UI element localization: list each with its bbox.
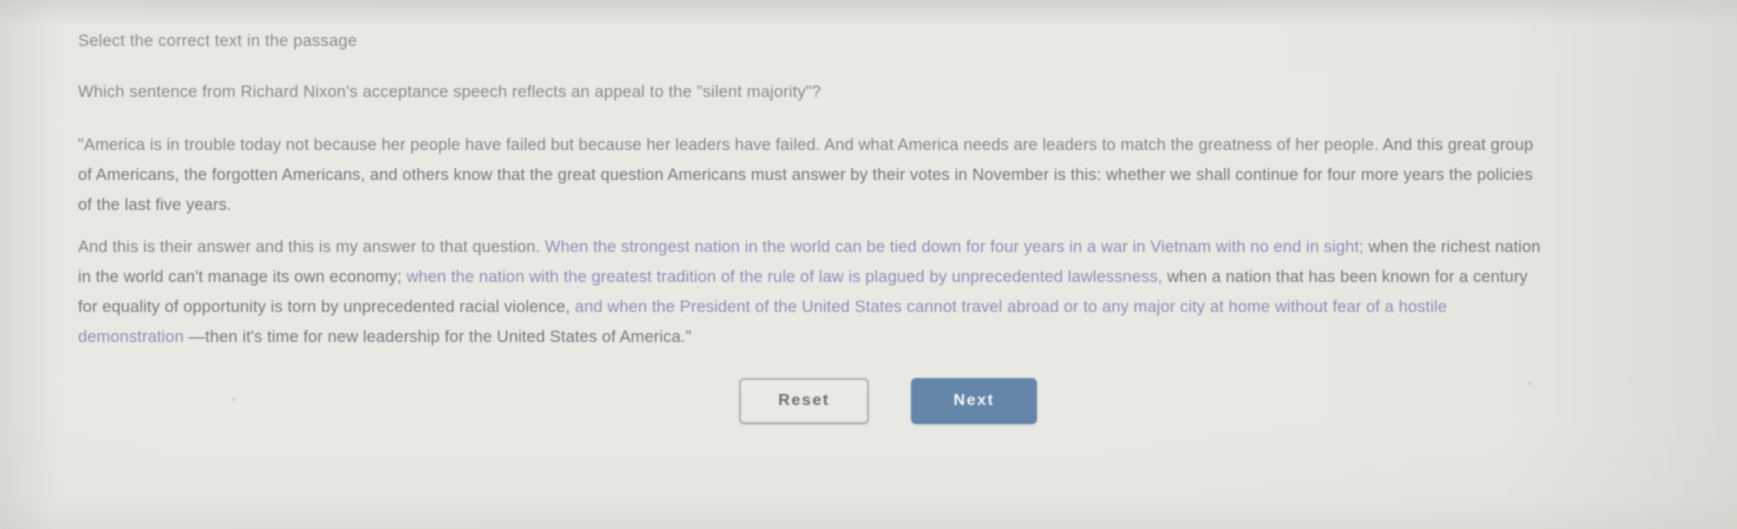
passage-sentence[interactable]: —then it's time for new leadership for t… [184,328,692,346]
question-text: Which sentence from Richard Nixon's acce… [78,83,821,102]
quiz-page: Select the correct text in the passage W… [0,0,1737,529]
page-blur-layer: Select the correct text in the passage W… [0,0,1737,529]
passage-paragraph-1[interactable]: "America is in trouble today not because… [78,130,1548,220]
instruction-text: Select the correct text in the passage [78,32,357,51]
passage-selected-sentence[interactable]: when the nation with the greatest tradit… [402,268,1163,286]
button-row: Reset Next [78,378,1578,424]
artifact-speck [1631,378,1633,380]
passage-selected-sentence[interactable]: When the strongest nation in the world c… [545,238,1364,256]
next-button[interactable]: Next [911,378,1037,424]
reset-button[interactable]: Reset [739,378,869,424]
passage-sentence[interactable]: And this is their answer and this is my … [78,238,545,256]
passage-sentence[interactable]: "America is in trouble today not because… [78,136,1383,154]
passage-paragraph-2[interactable]: And this is their answer and this is my … [78,232,1548,352]
